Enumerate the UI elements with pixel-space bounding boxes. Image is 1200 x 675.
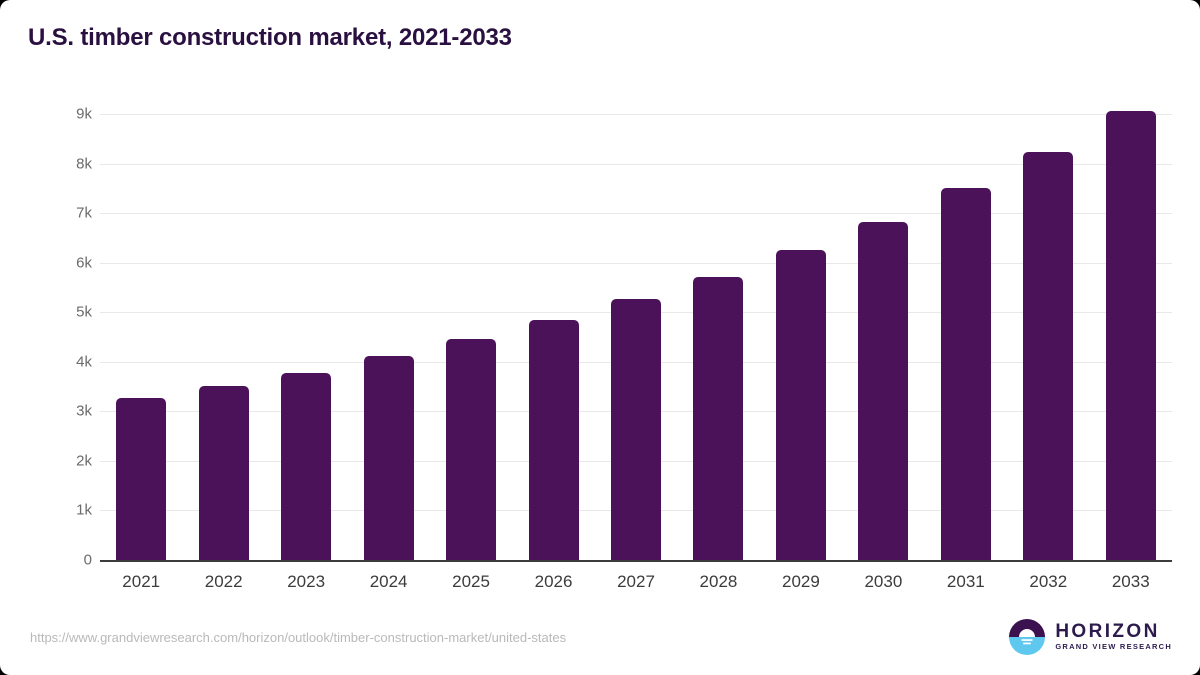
x-axis-tick-label: 2029	[782, 572, 820, 592]
y-axis-tick-label: 1k	[12, 502, 92, 519]
bar-2026[interactable]	[529, 320, 579, 560]
y-axis-tick-label: 0	[12, 552, 92, 569]
bar-2021[interactable]	[116, 398, 166, 560]
x-axis-tick-label: 2032	[1029, 572, 1067, 592]
y-axis-tick-label: 5k	[12, 304, 92, 321]
bar-2027[interactable]	[611, 299, 661, 560]
x-axis-tick-label: 2022	[205, 572, 243, 592]
horizon-logo-text: HORIZON GRAND VIEW RESEARCH	[1055, 622, 1172, 651]
bar-2028[interactable]	[693, 277, 743, 560]
chart-plot: 01k2k3k4k5k6k7k8k9k 20212022202320242025…	[0, 0, 1200, 675]
x-axis-tick-label: 2023	[287, 572, 325, 592]
chart-card: U.S. timber construction market, 2021-20…	[0, 0, 1200, 675]
y-axis-tick-label: 8k	[12, 155, 92, 172]
bar-2029[interactable]	[776, 250, 826, 560]
y-axis-tick-label: 3k	[12, 403, 92, 420]
x-axis-tick-label: 2027	[617, 572, 655, 592]
y-axis-tick-label: 4k	[12, 353, 92, 370]
bar-2033[interactable]	[1106, 111, 1156, 560]
x-axis-tick-label: 2031	[947, 572, 985, 592]
y-axis-tick-label: 7k	[12, 205, 92, 222]
horizon-logo-tagline: GRAND VIEW RESEARCH	[1055, 643, 1172, 651]
x-axis-tick-label: 2025	[452, 572, 490, 592]
x-axis-tick-label: 2033	[1112, 572, 1150, 592]
plot-area	[100, 114, 1172, 560]
x-axis-tick-label: 2024	[370, 572, 408, 592]
bar-2024[interactable]	[364, 356, 414, 560]
x-axis-line	[100, 560, 1172, 562]
y-axis-tick-label: 9k	[12, 106, 92, 123]
source-url[interactable]: https://www.grandviewresearch.com/horizo…	[30, 630, 566, 645]
horizon-logo-wordmark: HORIZON	[1055, 622, 1172, 642]
horizon-logo: HORIZON GRAND VIEW RESEARCH	[1008, 618, 1172, 656]
y-axis-tick-label: 6k	[12, 254, 92, 271]
bar-series	[100, 114, 1172, 560]
x-axis-tick-label: 2028	[700, 572, 738, 592]
bar-2030[interactable]	[858, 222, 908, 560]
x-axis-tick-label: 2026	[535, 572, 573, 592]
bar-2023[interactable]	[281, 373, 331, 560]
horizon-logo-icon	[1008, 618, 1046, 656]
bar-2032[interactable]	[1023, 152, 1073, 560]
bar-2022[interactable]	[199, 386, 249, 560]
y-axis-tick-label: 2k	[12, 452, 92, 469]
x-axis-tick-label: 2030	[864, 572, 902, 592]
bar-2025[interactable]	[446, 339, 496, 560]
x-axis-tick-label: 2021	[122, 572, 160, 592]
bar-2031[interactable]	[941, 188, 991, 560]
